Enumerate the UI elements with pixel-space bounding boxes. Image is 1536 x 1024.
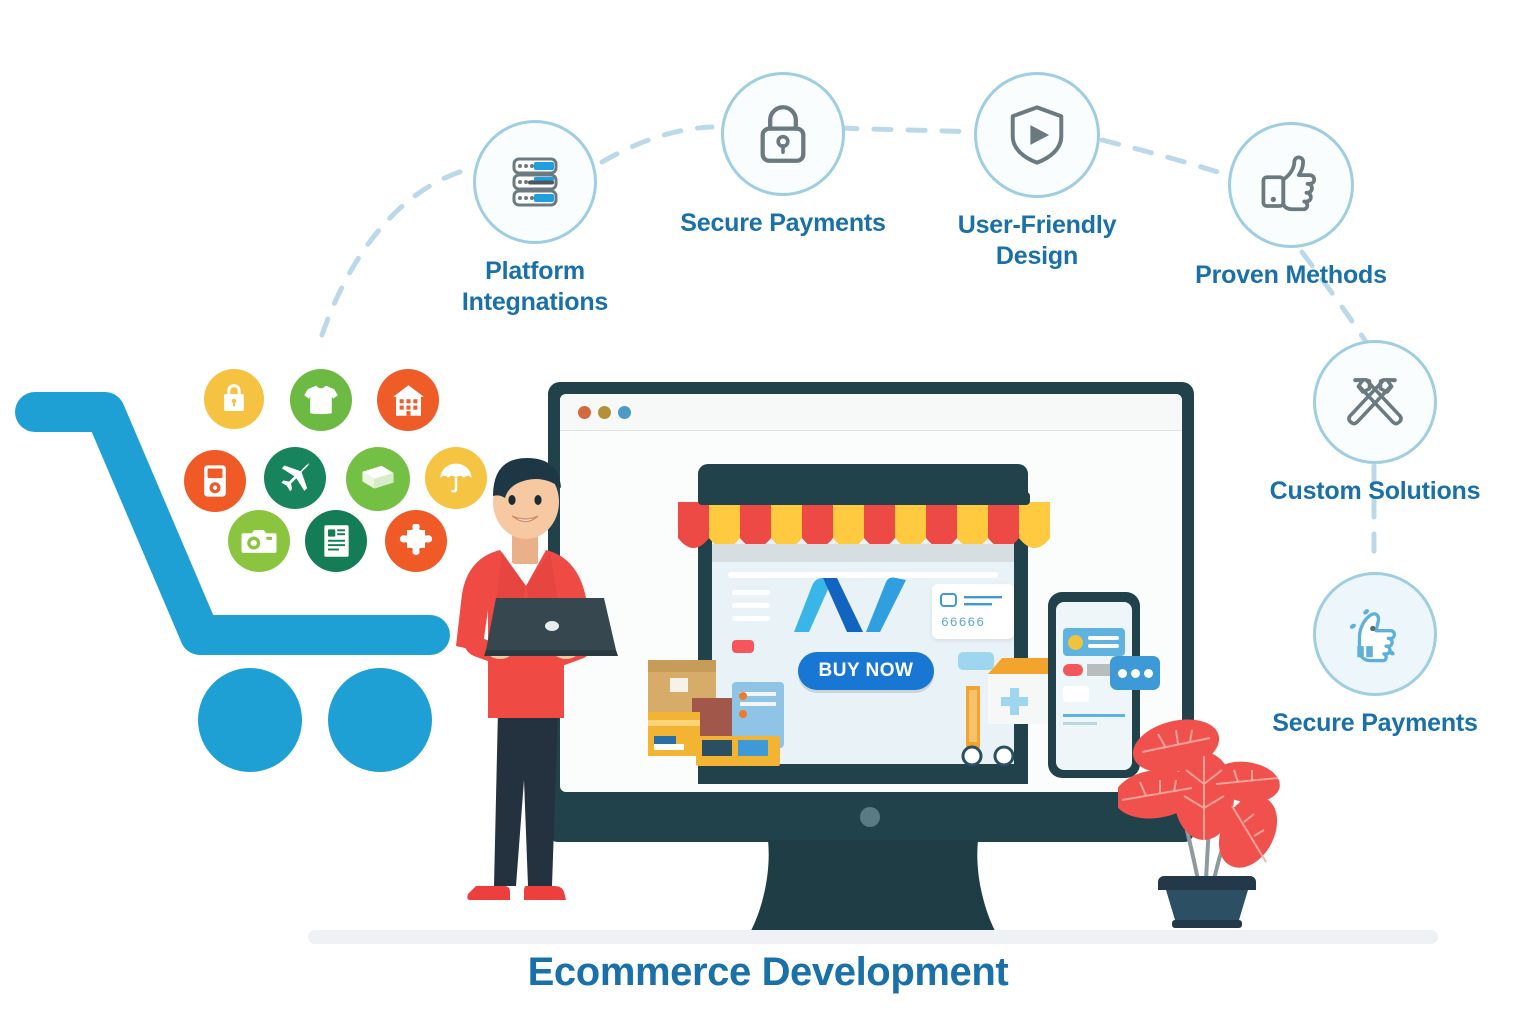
desk-surface: [308, 930, 1438, 944]
node-secure-payments-bottom[interactable]: Secure Payments: [1248, 572, 1502, 739]
phone-line-1: [1063, 714, 1125, 717]
node-proven-methods[interactable]: Proven Methods: [1164, 122, 1418, 291]
businessman-with-laptop: [440, 450, 660, 930]
node-user-friendly-design[interactable]: User-Friendly Design: [910, 72, 1164, 271]
node-circle-proven-methods: [1228, 122, 1354, 248]
buy-now-button[interactable]: BUY NOW: [798, 652, 934, 690]
credit-card: 66666: [932, 584, 1014, 639]
svg-text:66666: 66666: [941, 615, 985, 630]
node-label-platform-integrations: Platform Integnations: [462, 256, 608, 317]
tools-icon: [1344, 371, 1406, 433]
app-icon-camera: [228, 510, 290, 572]
node-label-secure-payments-bottom: Secure Payments: [1272, 708, 1477, 739]
monitor-power-button[interactable]: [860, 807, 880, 827]
buy-now-label: BUY NOW: [819, 660, 914, 682]
server-stack-icon: [504, 151, 566, 213]
node-label-user-friendly-design: User-Friendly Design: [958, 210, 1117, 271]
phone-card-line-2: [1088, 644, 1119, 648]
app-icon-book: [346, 447, 410, 511]
n-ribbon-logo: [790, 576, 910, 640]
app-icon-document: [305, 510, 367, 572]
phone-red-chip[interactable]: [1063, 664, 1083, 676]
phone-line-2: [1063, 722, 1097, 725]
browser-chrome-bar: [560, 394, 1182, 431]
padlock-icon: [754, 103, 812, 165]
tap-hand-icon: [1344, 604, 1406, 664]
node-custom-solutions[interactable]: Custom Solutions: [1248, 340, 1502, 507]
infographic-canvas: BUY NOW 66666: [0, 0, 1536, 1024]
phone-image-block: [1063, 686, 1089, 702]
awning-shadow: [712, 544, 1014, 562]
browser-dot-yellow[interactable]: [598, 406, 611, 424]
hand-truck-with-box: [952, 650, 1056, 774]
node-platform-integrations[interactable]: Platform Integnations: [400, 120, 670, 317]
phone-card-avatar: [1068, 635, 1083, 650]
app-icon-lock: [204, 369, 264, 429]
app-icon-tshirt: [290, 369, 352, 431]
page-title: Ecommerce Development: [0, 950, 1536, 995]
parcel-group: [640, 642, 808, 774]
page-text-line-2: [732, 603, 770, 608]
browser-dot-blue[interactable]: [618, 406, 631, 424]
node-circle-platform-integrations: [473, 120, 597, 244]
phone-card-line-1: [1088, 636, 1119, 640]
browser-dot-red[interactable]: [578, 406, 591, 424]
node-circle-secure-payments-top: [721, 72, 845, 196]
node-label-secure-payments-top: Secure Payments: [680, 208, 885, 239]
cart-wheel-left: [198, 668, 302, 772]
page-text-line-1: [732, 590, 770, 595]
app-icon-house: [377, 369, 439, 431]
node-label-custom-solutions: Custom Solutions: [1270, 476, 1481, 507]
monitor-stand: [748, 840, 998, 940]
cart-wheel-right: [328, 668, 432, 772]
shield-play-icon: [1007, 103, 1067, 167]
shopping-cart-icon: [10, 380, 460, 780]
app-icon-puzzle: [385, 510, 447, 572]
chat-bubble: [1110, 656, 1160, 690]
node-circle-user-friendly-design: [974, 72, 1100, 198]
app-icon-mp3-player: [184, 450, 246, 512]
node-circle-secure-payments-bottom: [1313, 572, 1437, 696]
page-text-line-3: [732, 616, 770, 621]
node-label-proven-methods: Proven Methods: [1195, 260, 1387, 291]
node-secure-payments-top[interactable]: Secure Payments: [648, 72, 918, 239]
thumbs-up-icon: [1259, 155, 1323, 215]
node-circle-custom-solutions: [1313, 340, 1437, 464]
app-icon-airplane: [264, 447, 326, 509]
